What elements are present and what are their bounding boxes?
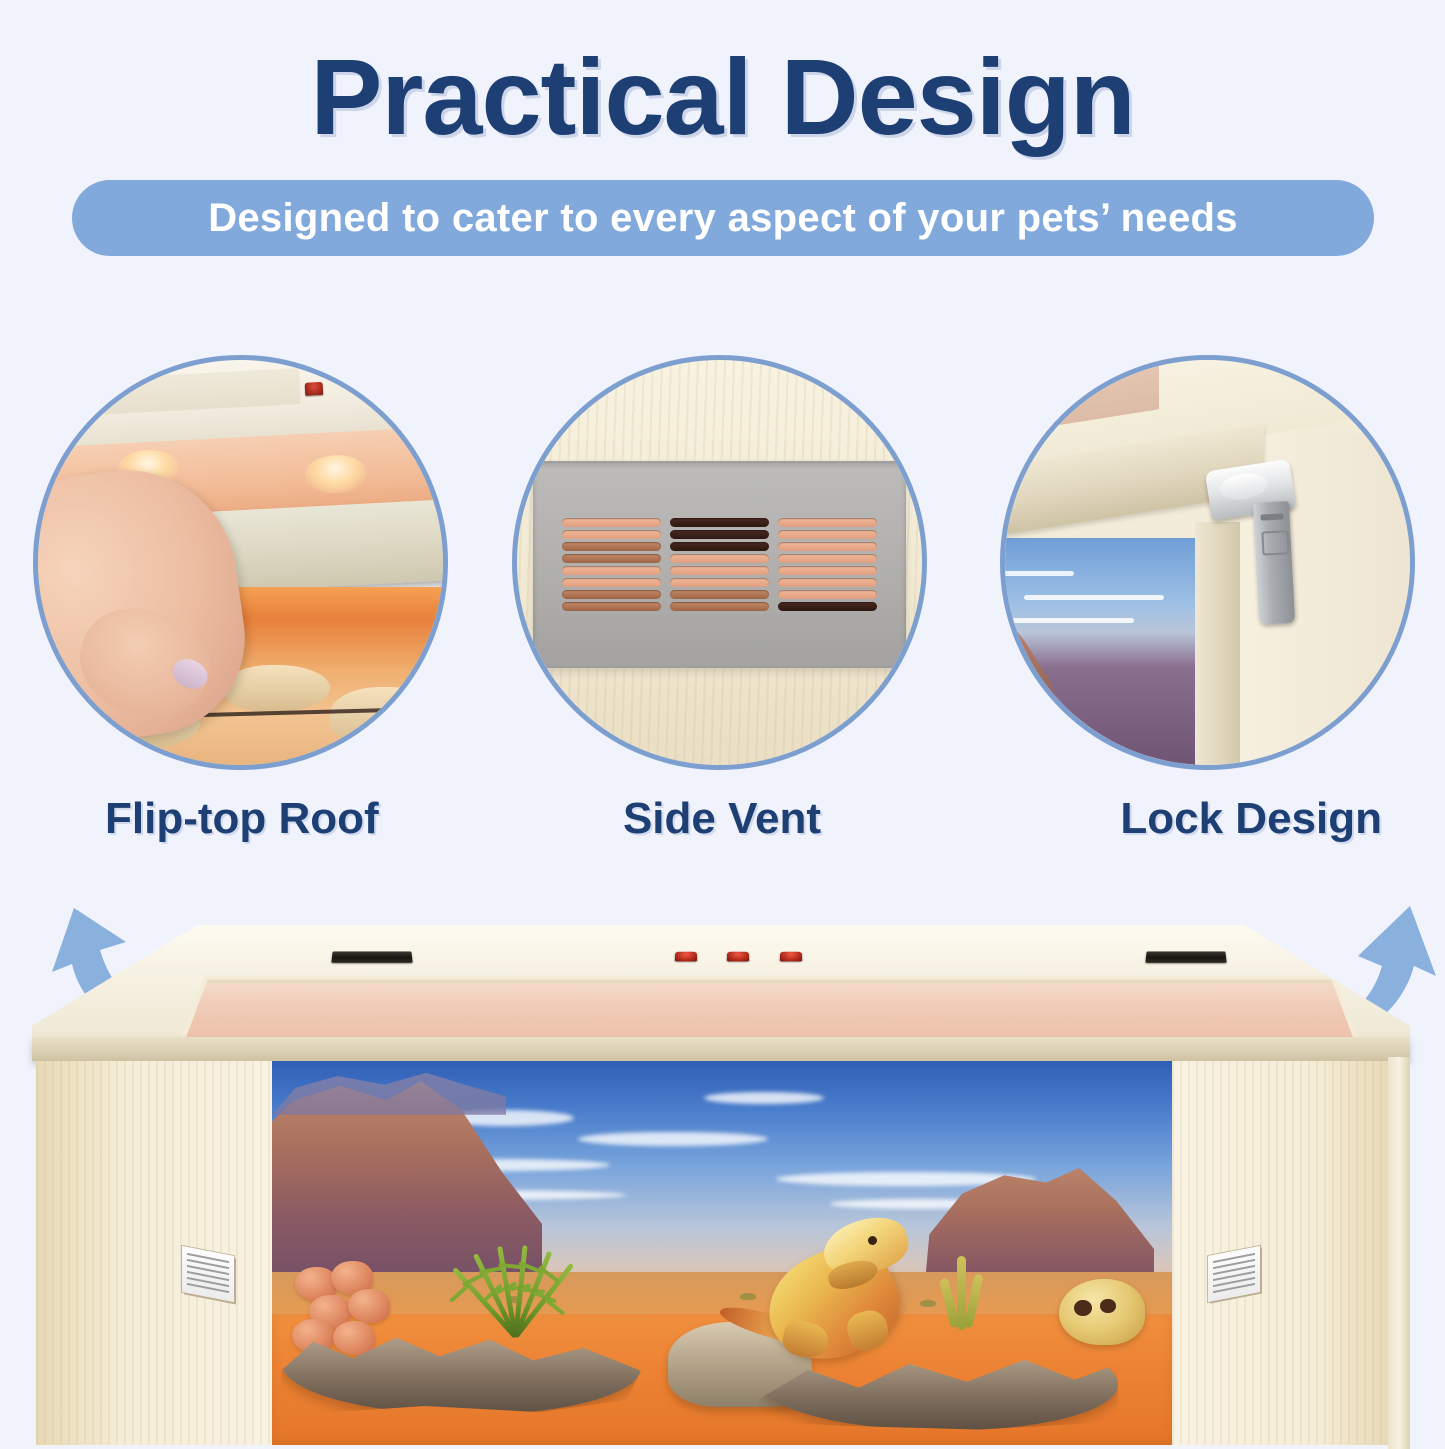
feature-photo-circle bbox=[512, 355, 927, 770]
hand-lifting-lid-photo bbox=[38, 360, 443, 765]
feature-side-vent: Side Vent bbox=[512, 355, 932, 844]
page-title: Practical Design bbox=[0, 38, 1445, 157]
lid-front-lip bbox=[32, 1037, 1410, 1061]
left-side-panel bbox=[36, 1061, 272, 1445]
right-outer-edge bbox=[1388, 1057, 1410, 1449]
feature-photo-circle bbox=[33, 355, 448, 770]
subtitle-banner: Designed to cater to every aspect of you… bbox=[72, 180, 1374, 256]
terrarium-body bbox=[36, 1061, 1408, 1445]
feature-label: Lock Design bbox=[1000, 794, 1420, 844]
terrarium-interior-scene bbox=[272, 1061, 1172, 1445]
header: Practical Design Designed to cater to ev… bbox=[0, 0, 1445, 290]
feature-lock-design: Lock Design bbox=[1000, 355, 1420, 844]
corner-post bbox=[1195, 522, 1240, 765]
animal-skull-decor bbox=[1059, 1279, 1145, 1345]
bulb-glow-icon bbox=[303, 453, 367, 494]
indicator-light-icon bbox=[727, 952, 749, 962]
side-vent-icon bbox=[182, 1246, 234, 1302]
bearded-dragon bbox=[713, 1224, 963, 1399]
corner-latch-lock-photo bbox=[1005, 360, 1410, 765]
hinge-icon bbox=[331, 951, 412, 962]
hinge-icon bbox=[1145, 951, 1226, 962]
feature-label: Flip-top Roof bbox=[33, 794, 453, 844]
terrarium-lid[interactable] bbox=[32, 925, 1410, 1045]
rock-decor bbox=[224, 665, 329, 711]
feature-photo-circle bbox=[1000, 355, 1415, 770]
vent-grille-photo bbox=[517, 360, 922, 765]
feature-label: Side Vent bbox=[512, 794, 932, 844]
feature-flip-top-roof: Flip-top Roof bbox=[33, 355, 453, 844]
desert-backdrop bbox=[1005, 538, 1199, 765]
latch-icon[interactable] bbox=[1253, 501, 1296, 624]
fern-plant-decor bbox=[443, 1217, 583, 1337]
indicator-light-icon bbox=[780, 952, 802, 962]
subtitle-text: Designed to cater to every aspect of you… bbox=[208, 196, 1238, 241]
indicator-light-icon bbox=[675, 952, 697, 962]
vent-grille-icon bbox=[533, 461, 906, 668]
indicator-light-icon bbox=[304, 382, 323, 396]
lid-screen-panel bbox=[186, 980, 1353, 1038]
wooden-reptile-terrarium bbox=[0, 925, 1445, 1445]
indicator-light-icon bbox=[369, 380, 388, 394]
right-side-panel bbox=[1172, 1061, 1408, 1445]
